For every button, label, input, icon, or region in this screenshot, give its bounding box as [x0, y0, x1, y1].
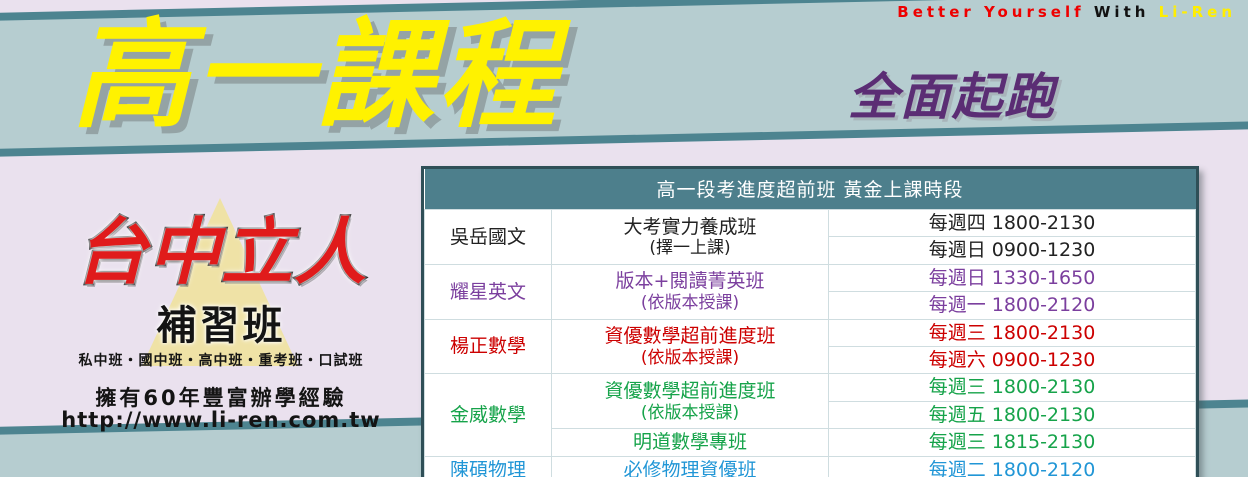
tagline-black: With — [1094, 3, 1150, 21]
logo-class-list: 私中班・國中班・高中班・重考班・口試班 — [46, 350, 396, 370]
course-name: 資優數學超前進度班 — [604, 325, 775, 347]
page-title: 高一課程 — [72, 16, 560, 134]
teacher-cell: 陳碩物理 — [425, 456, 552, 477]
course-cell: 明道數學專班 — [552, 429, 829, 456]
logo-type: 補習班 — [46, 306, 396, 346]
poster-root: Better Yourself With Li-Ren 高一課程 全面起跑 台中… — [0, 0, 1248, 477]
teacher-cell: 耀星英文 — [425, 264, 552, 319]
schedule-table-container: 高一段考進度超前班 黃金上課時段 吳岳國文大考實力養成班(擇一上課)每週四 18… — [421, 166, 1199, 477]
teacher-cell: 吳岳國文 — [425, 210, 552, 265]
tagline: Better Yourself With Li-Ren — [897, 3, 1236, 21]
course-cell: 資優數學超前進度班(依版本授課) — [552, 319, 829, 374]
schedule-table: 高一段考進度超前班 黃金上課時段 吳岳國文大考實力養成班(擇一上課)每週四 18… — [424, 169, 1196, 477]
course-name: 明道數學專班 — [633, 431, 747, 453]
course-note: (依版本授課) — [556, 348, 824, 368]
teacher-cell: 楊正數學 — [425, 319, 552, 374]
course-cell: 必修物理資優班 — [552, 456, 829, 477]
schedule-time-cell: 每週日 0900-1230 — [829, 237, 1196, 264]
course-cell: 版本+閱讀菁英班(依版本授課) — [552, 264, 829, 319]
table-row: 金威數學資優數學超前進度班(依版本授課)每週三 1800-2130 — [425, 374, 1196, 401]
course-note: (依版本授課) — [556, 293, 824, 313]
course-cell: 大考實力養成班(擇一上課) — [552, 210, 829, 265]
schedule-time-cell: 每週六 0900-1230 — [829, 347, 1196, 374]
schedule-time-cell: 每週四 1800-2130 — [829, 210, 1196, 237]
logo-website-url[interactable]: http://www.li-ren.com.tw — [46, 408, 396, 432]
tagline-red: Better Yourself — [897, 3, 1084, 21]
logo: 台中立人 補習班 私中班・國中班・高中班・重考班・口試班 擁有60年豐富辦學經驗… — [46, 198, 396, 418]
schedule-time-cell: 每週五 1800-2130 — [829, 401, 1196, 428]
teacher-cell: 金威數學 — [425, 374, 552, 456]
schedule-time-cell: 每週三 1815-2130 — [829, 429, 1196, 456]
schedule-time-cell: 每週二 1800-2120 — [829, 456, 1196, 477]
table-title: 高一段考進度超前班 黃金上課時段 — [425, 169, 1196, 210]
table-header-row: 高一段考進度超前班 黃金上課時段 — [425, 169, 1196, 210]
schedule-time-cell: 每週三 1800-2130 — [829, 319, 1196, 346]
course-name: 版本+閱讀菁英班 — [616, 270, 765, 292]
tagline-yellow: Li-Ren — [1159, 3, 1236, 21]
schedule-table-body: 吳岳國文大考實力養成班(擇一上課)每週四 1800-2130每週日 0900-1… — [425, 210, 1196, 477]
course-name: 資優數學超前進度班 — [604, 380, 775, 402]
schedule-time-cell: 每週日 1330-1650 — [829, 264, 1196, 291]
course-cell: 資優數學超前進度班(依版本授課) — [552, 374, 829, 429]
course-note: (依版本授課) — [556, 403, 824, 423]
table-row: 陳碩物理必修物理資優班每週二 1800-2120 — [425, 456, 1196, 477]
page-subtitle: 全面起跑 — [848, 72, 1056, 122]
course-name: 必修物理資優班 — [623, 459, 756, 477]
table-row: 耀星英文版本+閱讀菁英班(依版本授課)每週日 1330-1650 — [425, 264, 1196, 291]
course-note: (擇一上課) — [556, 238, 824, 258]
schedule-time-cell: 每週一 1800-2120 — [829, 292, 1196, 319]
table-row: 楊正數學資優數學超前進度班(依版本授課)每週三 1800-2130 — [425, 319, 1196, 346]
schedule-time-cell: 每週三 1800-2130 — [829, 374, 1196, 401]
table-row: 吳岳國文大考實力養成班(擇一上課)每週四 1800-2130 — [425, 210, 1196, 237]
course-name: 大考實力養成班 — [623, 216, 756, 238]
logo-name: 台中立人 — [46, 216, 396, 288]
